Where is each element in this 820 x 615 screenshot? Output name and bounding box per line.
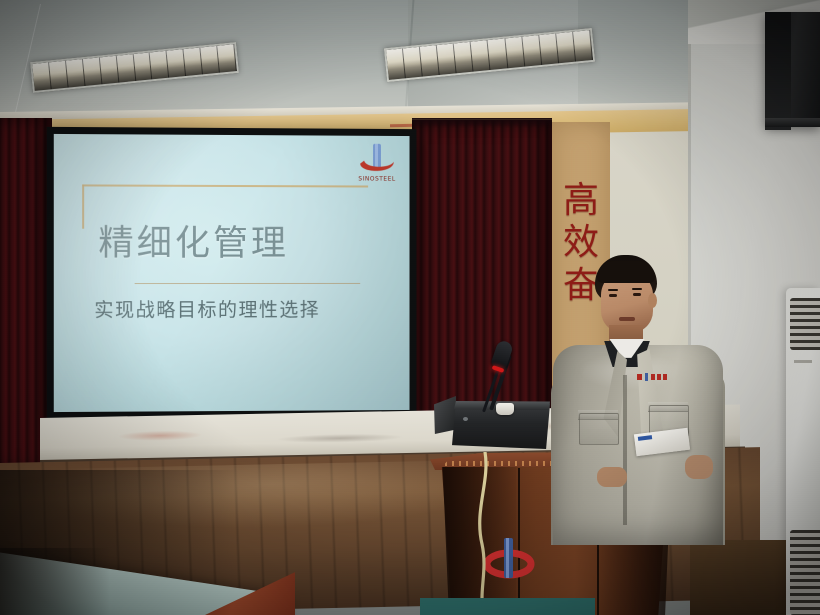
slide-title: 精细化管理 <box>98 215 289 266</box>
presenter-chest-logo-icon <box>637 367 671 377</box>
presenter-mouth <box>619 317 635 321</box>
presenter-hand-right <box>685 455 713 479</box>
air-conditioner-unit[interactable] <box>786 288 820 615</box>
podium-sinosteel-logo-icon <box>482 534 536 580</box>
ac-brand-label <box>794 360 812 363</box>
presenter-eye-left <box>609 294 617 297</box>
presenter-eyebrow-right <box>632 288 642 290</box>
teal-floor-patch <box>420 598 595 615</box>
presenter-eyebrow-left <box>608 289 618 291</box>
slide-divider-rule <box>135 283 361 284</box>
presenter-hair-fringe <box>597 261 655 283</box>
cup <box>496 403 514 415</box>
slide-subtitle: 实现战略目标的理性选择 <box>94 295 320 322</box>
foreground-table-shadow <box>0 548 110 615</box>
wall-speaker-base <box>765 118 820 127</box>
presenter-person <box>545 255 730 545</box>
presenter-pocket-left <box>579 413 619 445</box>
projection-screen-surface: SINOSTEEL 精细化管理 实现战略目标的理性选择 <box>54 134 410 412</box>
ac-vent-top <box>790 298 820 350</box>
curtain-top-shadow <box>412 118 552 128</box>
projection-screen-frame: SINOSTEEL 精细化管理 实现战略目标的理性选择 <box>47 127 417 421</box>
presenter-eye-right <box>633 293 641 296</box>
ac-vent-bottom <box>790 530 820 615</box>
presenter-ear <box>648 293 657 308</box>
sinosteel-logo-icon: SINOSTEEL <box>356 142 397 184</box>
stage-curtain-right <box>412 120 552 450</box>
presenter-jacket-placket <box>623 375 627 525</box>
presenter-hand-left <box>597 467 627 487</box>
slide-logo-text: SINOSTEEL <box>358 176 395 183</box>
photo-scene: 高 效 奋 SINOSTEEL 精细化管理 实现战略目标的理性选择 <box>0 0 820 615</box>
laptop-indicator-led <box>463 417 468 421</box>
slide-corner-rule-horizontal <box>82 184 368 187</box>
wall-speaker-grille <box>765 12 791 130</box>
banner-char-1: 高 <box>563 180 599 222</box>
slide-corner-rule-vertical <box>82 184 84 228</box>
